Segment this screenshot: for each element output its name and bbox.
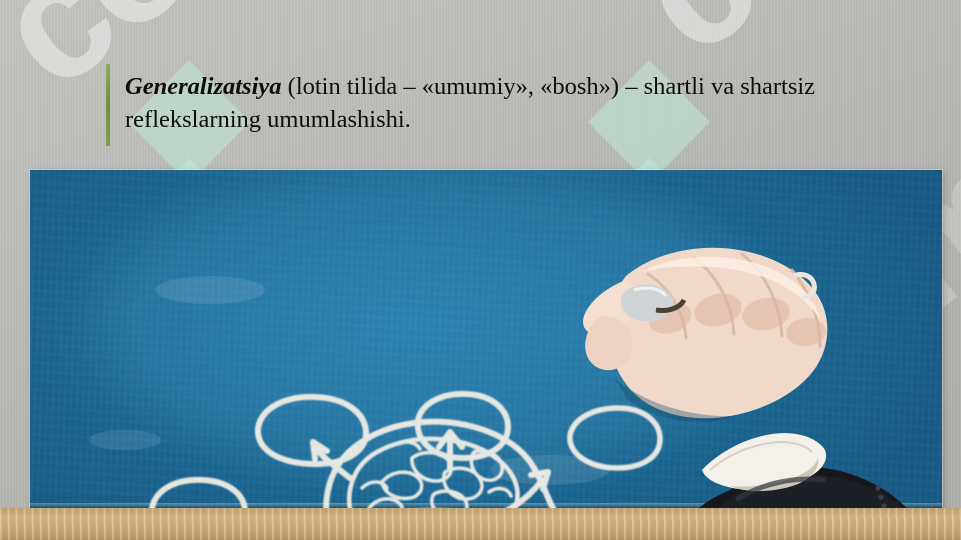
heading-accent-bar [106,64,110,146]
heading-term: Generalizatsiya [125,73,282,100]
desk-strip [0,508,961,540]
chalk-diagram [30,170,942,523]
hand-with-chalk [583,248,916,523]
slide-heading: Generalizatsiya (lotin tilida – «umumiy»… [125,70,845,136]
presentation-slide: com com com com [0,0,961,540]
slide-photo [30,170,942,523]
desk-strip-grain [0,508,961,540]
